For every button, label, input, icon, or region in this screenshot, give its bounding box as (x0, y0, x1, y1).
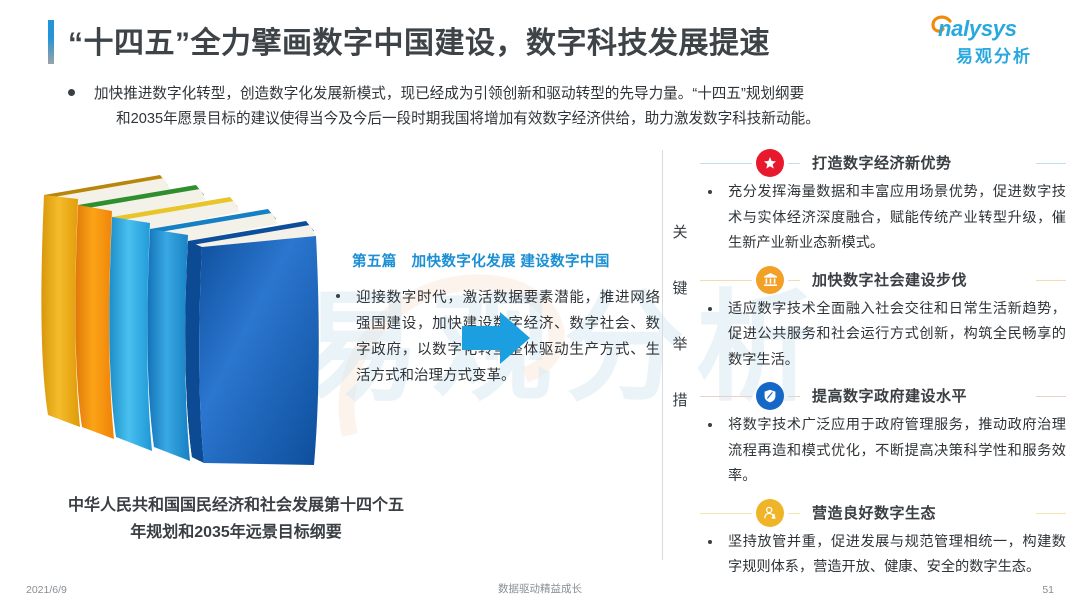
analysys-logo: nalysys 易观分析 (924, 14, 1052, 70)
divider-mid-2 (788, 280, 800, 281)
measure-title-1: 打造数字经济新优势 (812, 152, 952, 173)
books-caption-line2: 年规划和2035年远景目标纲要 (130, 524, 342, 541)
lead-text: 加快推进数字化转型，创造数字化发展新模式，现已经成为引领创新和驱动转型的先导力量… (94, 82, 1020, 132)
divider-mid-4 (788, 513, 800, 514)
measure-bullet-1 (708, 190, 712, 194)
measure-body-1: 充分发挥海量数据和丰富应用场景优势，促进数字技术与实体经济深度融合，赋能传统产业… (700, 180, 1066, 265)
measure-text-3: 将数字技术广泛应用于政府管理服务，推动政府治理流程再造和模式优化，不断提高决策科… (728, 413, 1066, 490)
measure-title-4: 营造良好数字生态 (812, 502, 936, 523)
divider-right-2 (1036, 280, 1066, 281)
person-group-icon (756, 499, 784, 527)
divider-left-1 (700, 163, 752, 164)
divider-right-4 (1036, 513, 1066, 514)
books-illustration (34, 165, 334, 485)
vertical-label-c3: 举 (672, 336, 687, 353)
measure-section-1: 打造数字经济新优势 充分发挥海量数据和丰富应用场景优势，促进数字技术与实体经济深… (700, 148, 1066, 265)
measure-section-3: 提高数字政府建设水平 将数字技术广泛应用于政府管理服务，推动政府治理流程再造和模… (700, 381, 1066, 498)
lead-paragraph: 加快推进数字化转型，创造数字化发展新模式，现已经成为引领创新和驱动转型的先导力量… (60, 82, 1020, 132)
measure-section-2: 加快数字社会建设步伐 适应数字技术全面融入社会交往和日常生活新趋势，促进公共服务… (700, 265, 1066, 382)
shield-check-svg (762, 388, 778, 404)
bank-building-svg (762, 271, 779, 288)
middle-heading: 第五篇 加快数字化发展 建设数字中国 (352, 250, 660, 271)
measure-text-1: 充分发挥海量数据和丰富应用场景优势，促进数字技术与实体经济深度融合，赋能传统产业… (728, 180, 1066, 257)
measure-bullet-4 (708, 540, 712, 544)
measure-text-4: 坚持放管并重，促进发展与规范管理相统一，构建数字规则体系，营造开放、健康、安全的… (728, 530, 1066, 581)
measures-panel: 打造数字经济新优势 充分发挥海量数据和丰富应用场景优势，促进数字技术与实体经济深… (700, 148, 1066, 589)
vertical-label-c1: 关 (672, 224, 687, 241)
right-arrow-icon (462, 308, 532, 373)
badge-star-svg (762, 155, 778, 171)
books-caption-line1: 中华人民共和国国民经济和社会发展第十四个五 (68, 497, 404, 514)
title-accent-bar (48, 20, 54, 64)
divider-left-3 (700, 396, 752, 397)
vertical-label-c4: 措 (672, 392, 687, 409)
divider-mid-1 (788, 163, 800, 164)
measure-header-1: 打造数字经济新优势 (700, 148, 1066, 178)
panel-divider (662, 150, 663, 560)
divider-left-2 (700, 280, 752, 281)
divider-mid-3 (788, 396, 800, 397)
divider-right-3 (1036, 396, 1066, 397)
right-arrow-svg (462, 308, 532, 368)
logo-wordmark: nalysys (938, 16, 1017, 42)
shield-check-icon (756, 382, 784, 410)
vertical-label-c2: 键 (672, 280, 687, 297)
measure-title-3: 提高数字政府建设水平 (812, 385, 967, 406)
measure-body-4: 坚持放管并重，促进发展与规范管理相统一，构建数字规则体系，营造开放、健康、安全的… (700, 530, 1066, 589)
measure-text-2: 适应数字技术全面融入社会交往和日常生活新趋势，促进公共服务和社会运行方式创新，构… (728, 297, 1066, 374)
measure-section-4: 营造良好数字生态 坚持放管并重，促进发展与规范管理相统一，构建数字规则体系，营造… (700, 498, 1066, 589)
page-title: “十四五”全力擘画数字中国建设，数字科技发展提速 (68, 18, 770, 62)
measure-title-2: 加快数字社会建设步伐 (812, 269, 967, 290)
books-svg (34, 165, 334, 485)
slide-root: 易观分析 “十四五”全力擘画数字中国建设，数字科技发展提速 nalysys 易观… (0, 0, 1080, 608)
measure-header-4: 营造良好数字生态 (700, 498, 1066, 528)
person-group-svg (762, 505, 778, 521)
lead-bullet-icon (68, 89, 75, 96)
measure-bullet-3 (708, 423, 712, 427)
divider-left-4 (700, 513, 752, 514)
measure-header-3: 提高数字政府建设水平 (700, 381, 1066, 411)
measure-body-3: 将数字技术广泛应用于政府管理服务，推动政府治理流程再造和模式优化，不断提高决策科… (700, 413, 1066, 498)
lead-text-line1: 加快推进数字化转型，创造数字化发展新模式，现已经成为引领创新和驱动转型的先导力量… (94, 86, 804, 102)
books-caption: 中华人民共和国国民经济和社会发展第十四个五 年规划和2035年远景目标纲要 (26, 492, 446, 546)
badge-star-icon (756, 149, 784, 177)
lead-text-line2: 和2035年愿景目标的建议使得当今及今后一段时期我国将增加有效数字经济供给，助力… (94, 107, 1020, 132)
vertical-label-key-measures: 关 键 举 措 (668, 205, 692, 429)
bank-building-icon (756, 266, 784, 294)
divider-right-1 (1036, 163, 1066, 164)
footer-page-number: 51 (1042, 584, 1054, 596)
measure-body-2: 适应数字技术全面融入社会交往和日常生活新趋势，促进公共服务和社会运行方式创新，构… (700, 297, 1066, 382)
footer-slogan: 数据驱动精益成长 (0, 581, 1080, 596)
measure-bullet-2 (708, 307, 712, 311)
logo-chinese-name: 易观分析 (956, 42, 1032, 67)
measure-header-2: 加快数字社会建设步伐 (700, 265, 1066, 295)
middle-bullet-icon (336, 294, 340, 298)
